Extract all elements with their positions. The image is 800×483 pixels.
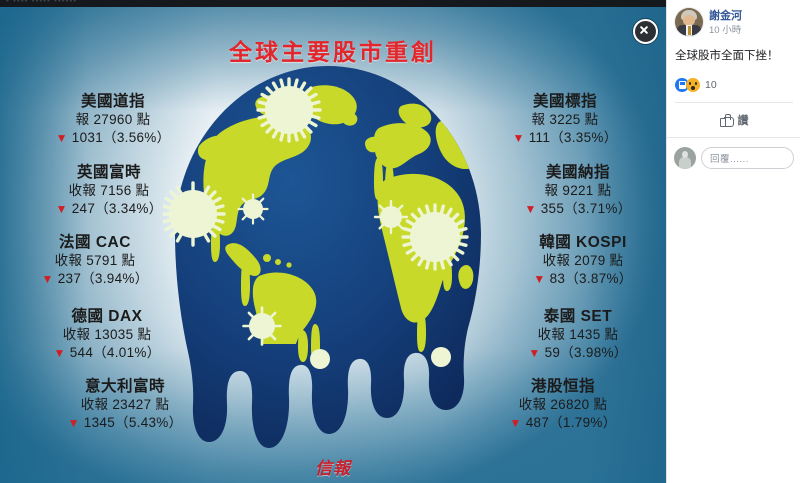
index-change-value: 237（3.94%）: [54, 271, 149, 286]
system-topbar: ▪ ▪▪▪▪ ▪▪▪▪▪ ▪▪▪▪▪▪: [0, 0, 666, 7]
index-change: ▼ 1031（3.56%）: [38, 129, 188, 147]
index-change-value: 59（3.98%）: [541, 345, 628, 360]
reply-row: 回覆......: [667, 138, 800, 178]
down-triangle-icon: ▼: [512, 131, 524, 145]
author-avatar[interactable]: [675, 8, 703, 36]
index-change: ▼ 247（3.34%）: [34, 200, 184, 218]
down-triangle-icon: ▼: [528, 346, 540, 360]
index-change: ▼ 544（4.01%）: [32, 344, 182, 362]
index-name: 韓國 KOSPI: [508, 233, 658, 252]
post-text: 全球股市全面下挫！: [667, 38, 800, 65]
index-block-right-8: 韓國 KOSPI收報 2079 點▼ 83（3.87%）: [508, 233, 658, 288]
down-triangle-icon: ▼: [524, 202, 536, 216]
index-name: 法國 CAC: [20, 233, 170, 252]
reaction-count[interactable]: 10: [705, 79, 717, 91]
index-block-right-9: 泰國 SET收報 1435 點▼ 59（3.98%）: [503, 307, 653, 362]
index-price: 收報 1435 點: [503, 326, 653, 344]
like-button-label: 讚: [738, 112, 749, 128]
index-block-left-2: 英國富時收報 7156 點▼ 247（3.34%）: [34, 163, 184, 218]
system-topbar-text: ▪ ▪▪▪▪ ▪▪▪▪▪ ▪▪▪▪▪▪: [6, 0, 77, 5]
index-change-value: 1031（3.56%）: [68, 130, 171, 145]
index-change: ▼ 1345（5.43%）: [50, 414, 200, 432]
index-block-left-4: 德國 DAX收報 13035 點▼ 544（4.01%）: [32, 307, 182, 362]
post-timestamp[interactable]: 10 小時: [709, 24, 742, 37]
index-change-value: 1345（5.43%）: [80, 415, 183, 430]
index-price: 收報 13035 點: [32, 326, 182, 344]
post-author-name[interactable]: 謝金河: [709, 9, 742, 23]
down-triangle-icon: ▼: [509, 416, 521, 430]
index-change: ▼ 111（3.35%）: [490, 129, 640, 147]
index-change-value: 355（3.71%）: [537, 201, 632, 216]
index-price: 報 9221 點: [503, 182, 653, 200]
index-price: 收報 7156 點: [34, 182, 184, 200]
screen-root: ▪ ▪▪▪▪ ▪▪▪▪▪ ▪▪▪▪▪▪ 全球主要股市重創: [0, 0, 800, 483]
index-name: 意大利富時: [50, 377, 200, 396]
like-button[interactable]: 讚: [720, 112, 749, 128]
index-price: 收報 2079 點: [508, 252, 658, 270]
index-name: 泰國 SET: [503, 307, 653, 326]
reaction-summary[interactable]: 10: [667, 64, 800, 92]
facebook-post-panel: 謝金河 10 小時 全球股市全面下挫！ 10 讚: [666, 0, 800, 483]
index-name: 美國道指: [38, 92, 188, 111]
index-change-value: 83（3.87%）: [546, 271, 633, 286]
index-block-right-6: 美國標指報 3225 點▼ 111（3.35%）: [490, 92, 640, 147]
index-change-value: 247（3.34%）: [68, 201, 163, 216]
thumbs-up-icon: [720, 114, 733, 127]
photo-viewer: 全球主要股市重創: [0, 7, 666, 483]
index-change-value: 487（1.79%）: [522, 415, 617, 430]
wow-reaction-icon: [686, 78, 700, 92]
post-actions-row: 讚: [667, 103, 800, 137]
index-name: 港股恒指: [488, 377, 638, 396]
index-change: ▼ 355（3.71%）: [503, 200, 653, 218]
index-block-right-10: 港股恒指收報 26820 點▼ 487（1.79%）: [488, 377, 638, 432]
post-header: 謝金河 10 小時: [667, 0, 800, 38]
thumbs-up-thumb: [725, 114, 731, 120]
index-name: 美國標指: [490, 92, 640, 111]
reply-input[interactable]: 回覆......: [701, 147, 794, 169]
down-triangle-icon: ▼: [41, 272, 53, 286]
index-block-right-7: 美國納指報 9221 點▼ 355（3.71%）: [503, 163, 653, 218]
index-price: 報 3225 點: [490, 111, 640, 129]
index-name: 英國富時: [34, 163, 184, 182]
index-price: 收報 26820 點: [488, 396, 638, 414]
publisher-watermark: 信報: [0, 454, 666, 479]
viewer-avatar-body: [679, 157, 691, 169]
reply-placeholder: 回覆......: [710, 151, 749, 165]
down-triangle-icon: ▼: [55, 202, 67, 216]
wow-eye-right: [695, 82, 697, 85]
melting-globe-illustration: [163, 62, 493, 462]
post-meta: 謝金河 10 小時: [709, 8, 742, 38]
index-name: 德國 DAX: [32, 307, 182, 326]
wow-eye-left: [689, 82, 691, 85]
index-change: ▼ 487（1.79%）: [488, 414, 638, 432]
index-change: ▼ 83（3.87%）: [508, 270, 658, 288]
index-price: 收報 23427 點: [50, 396, 200, 414]
index-change-value: 544（4.01%）: [66, 345, 161, 360]
index-change: ▼ 237（3.94%）: [20, 270, 170, 288]
down-triangle-icon: ▼: [56, 131, 68, 145]
down-triangle-icon: ▼: [68, 416, 80, 430]
down-triangle-icon: ▼: [533, 272, 545, 286]
index-change-value: 111（3.35%）: [525, 130, 618, 145]
down-triangle-icon: ▼: [53, 346, 65, 360]
avatar-tie: [688, 26, 691, 35]
wow-mouth: [691, 86, 695, 90]
index-price: 報 27960 點: [38, 111, 188, 129]
index-name: 美國納指: [503, 163, 653, 182]
index-price: 收報 5791 點: [20, 252, 170, 270]
viewer-avatar[interactable]: [674, 147, 696, 169]
index-block-left-3: 法國 CAC收報 5791 點▼ 237（3.94%）: [20, 233, 170, 288]
index-change: ▼ 59（3.98%）: [503, 344, 653, 362]
index-block-left-5: 意大利富時收報 23427 點▼ 1345（5.43%）: [50, 377, 200, 432]
close-icon[interactable]: [633, 19, 658, 44]
index-block-left-1: 美國道指報 27960 點▼ 1031（3.56%）: [38, 92, 188, 147]
